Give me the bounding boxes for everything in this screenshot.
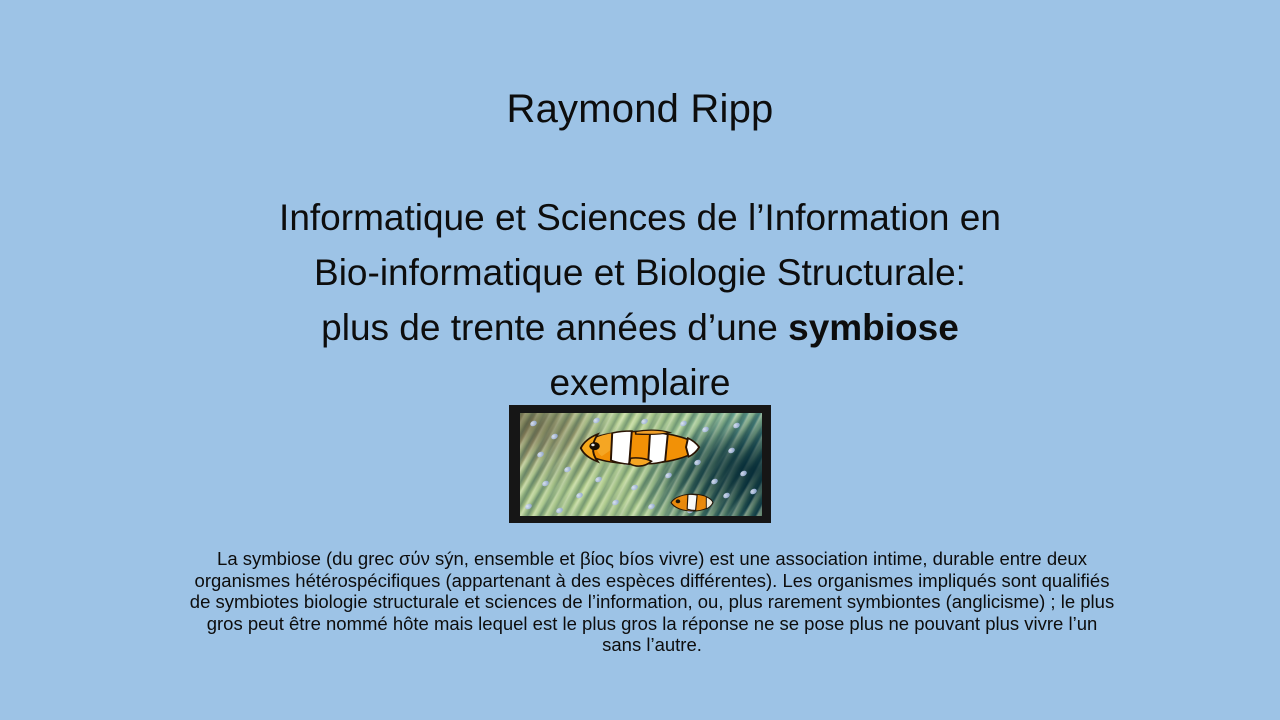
title-line-3-prefix: plus de trente années d’une <box>321 307 788 348</box>
clownfish-photo-frame <box>509 405 771 523</box>
title-line-3: plus de trente années d’une symbiose <box>140 300 1140 355</box>
author-name: Raymond Ripp <box>0 83 1280 135</box>
slide-canvas: Raymond Ripp Informatique et Sciences de… <box>0 0 1280 720</box>
title-line-4: exemplaire <box>140 355 1140 410</box>
clownfish-primary <box>573 425 704 470</box>
title-line-2: Bio-informatique et Biologie Structurale… <box>140 245 1140 300</box>
title-emphasis-symbiose: symbiose <box>788 307 959 348</box>
title-line-1: Informatique et Sciences de l’Informatio… <box>140 190 1140 245</box>
clownfish-secondary <box>668 491 714 514</box>
slide-title: Informatique et Sciences de l’Informatio… <box>140 190 1140 410</box>
clownfish-photo <box>520 413 762 516</box>
symbiosis-definition-caption: La symbiose (du grec σύν sýn, ensemble e… <box>186 548 1118 656</box>
